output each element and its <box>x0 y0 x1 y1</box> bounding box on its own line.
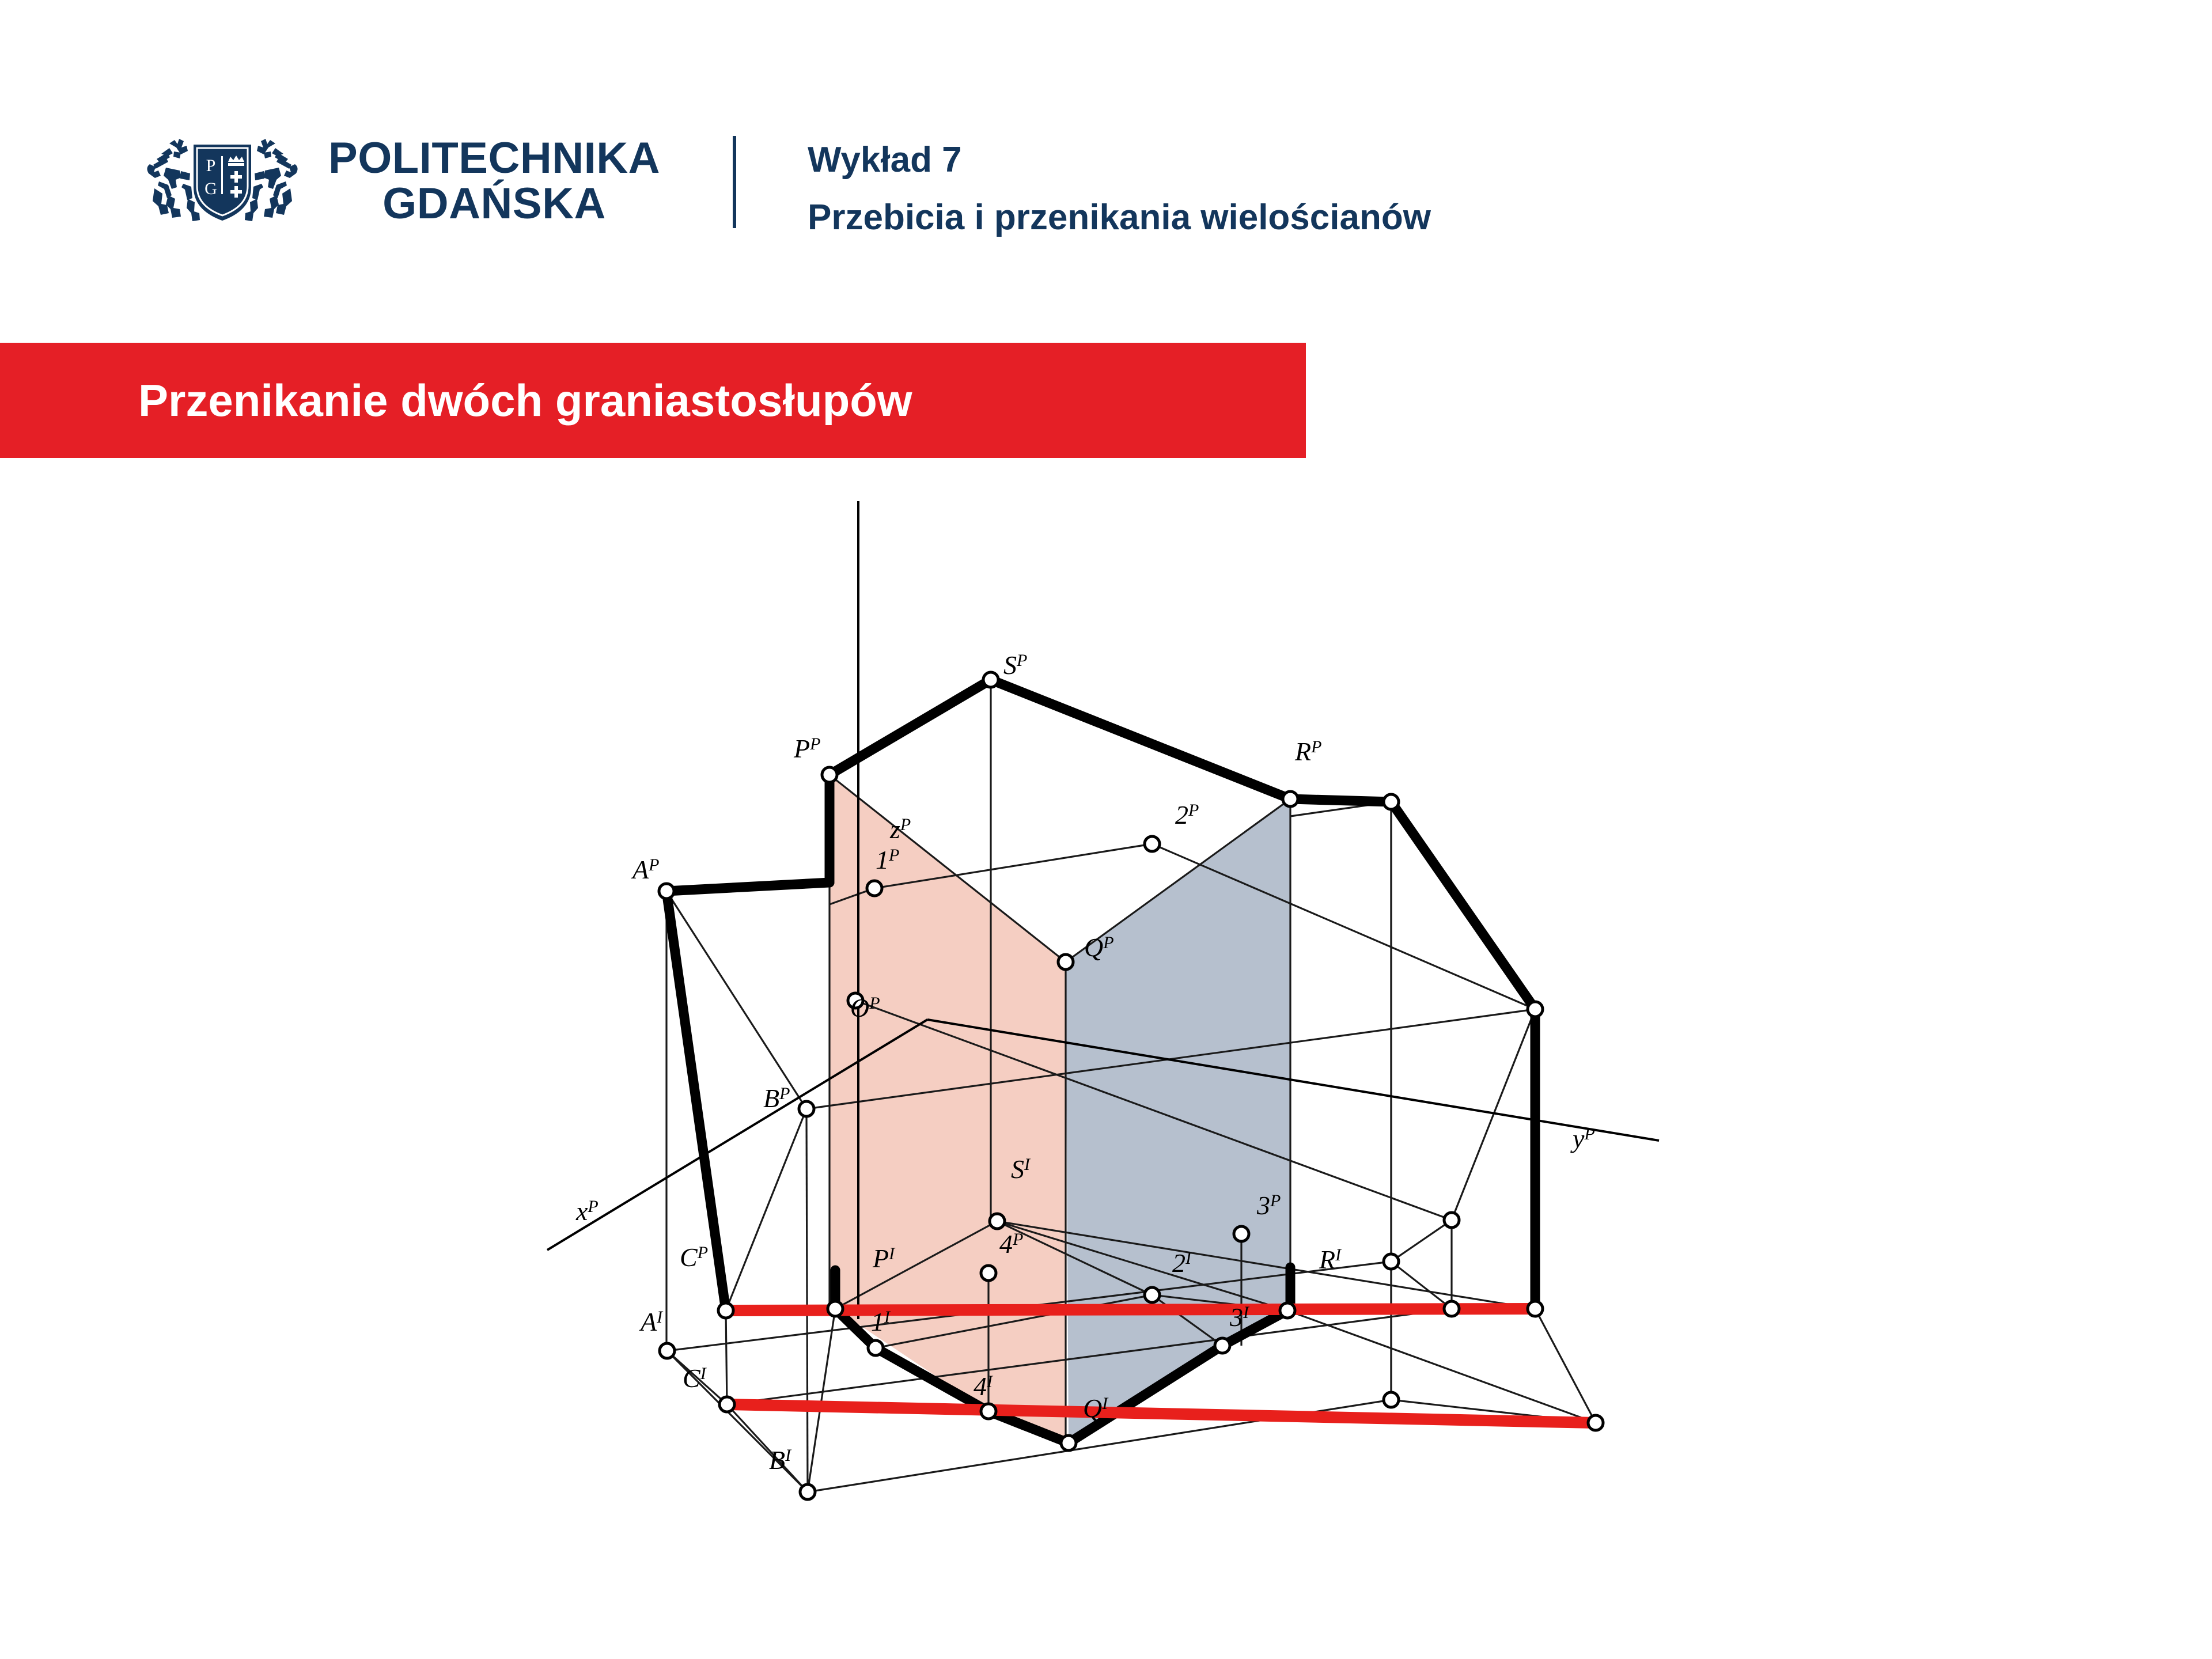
vertex-1I <box>868 1340 883 1355</box>
vertex-BP <box>799 1101 814 1116</box>
vertex-BI <box>800 1484 815 1499</box>
lecture-subject: Przebicia i przenikania wielościanów <box>808 189 1431 247</box>
intersection-line-lower <box>727 1404 1596 1423</box>
vertex-QI <box>1061 1435 1076 1450</box>
university-wordmark: POLITECHNIKA GDAŃSKA <box>328 136 660 226</box>
label-CP: CP <box>680 1243 708 1272</box>
vertex-AP <box>659 884 674 899</box>
face-blue-right <box>1066 799 1290 1443</box>
label-BP: BP <box>763 1084 790 1113</box>
lecture-number: Wykład 7 <box>808 131 1431 189</box>
label-AI: AI <box>639 1307 664 1336</box>
label-RI: RI <box>1319 1245 1342 1274</box>
vertex-QP <box>1058 955 1073 969</box>
axonometric-projection-figure: zPxPyPSPPPRP2P1PQPAPOPBPSI3P4P2ICPPIRI1I… <box>0 501 2212 1659</box>
shield-letter-p: P <box>206 156 216 175</box>
vertex-CI <box>719 1397 734 1412</box>
gdansk-arms-icon <box>228 156 244 198</box>
vertex-rear-mid <box>1384 1254 1399 1269</box>
label-AP: AP <box>631 855 659 884</box>
vertex-TP <box>1384 794 1399 809</box>
vertex-CP <box>718 1303 733 1318</box>
vertex-VP <box>1528 1002 1543 1017</box>
vertex-4P <box>981 1266 996 1281</box>
politechnika-gdanska-crest-icon: P G <box>136 131 309 232</box>
label-SP: SP <box>1003 650 1027 680</box>
vertex-PP <box>822 767 837 782</box>
intersection-line-upper <box>726 1309 1535 1310</box>
vertex-RI <box>1280 1303 1295 1318</box>
vertex-rear-lower <box>1444 1301 1459 1316</box>
university-logo-block: P G POLITECHNIKA GDAŃSKA <box>136 128 718 234</box>
vertex-TI <box>1384 1392 1399 1407</box>
wordmark-line-2: GDAŃSKA <box>328 181 660 226</box>
header-vertical-divider <box>733 136 736 228</box>
technical-drawing-area: zPxPyPSPPPRP2P1PQPAPOPBPSI3P4P2ICPPIRI1I… <box>0 501 2212 1659</box>
label-yP: yP <box>1570 1124 1595 1153</box>
header-title-block: Wykład 7 Przebicia i przenikania wielośc… <box>808 131 1431 247</box>
vertex-VI <box>1528 1301 1543 1316</box>
vertex-WI <box>1588 1415 1603 1430</box>
label-PP: PP <box>793 734 820 763</box>
vertex-1P <box>867 881 882 896</box>
slide-header: P G POLITECHNIKA GDAŃSKA Wykład 7 Przebi… <box>0 0 2212 323</box>
vertex-AI <box>660 1343 675 1358</box>
vertex-RP <box>1283 791 1298 806</box>
label-RP: RP <box>1294 737 1321 766</box>
vertex-PI <box>828 1301 843 1316</box>
vertex-SP <box>983 672 998 687</box>
wordmark-line-1: POLITECHNIKA <box>328 136 660 181</box>
vertex-3P <box>1234 1226 1249 1241</box>
shield-letter-g: G <box>204 179 217 198</box>
section-title: Przenikanie dwóch graniastosłupów <box>138 343 912 458</box>
vertex-2I <box>1145 1287 1160 1302</box>
vertex-3I <box>1215 1338 1230 1353</box>
label-2P: 2P <box>1175 800 1199 829</box>
vertex-rear-upper <box>1444 1213 1459 1228</box>
vertex-4I <box>981 1404 996 1419</box>
vertex-SI <box>990 1214 1005 1229</box>
vertex-2P <box>1145 836 1160 851</box>
section-banner: Przenikanie dwóch graniastosłupów <box>0 343 1306 458</box>
